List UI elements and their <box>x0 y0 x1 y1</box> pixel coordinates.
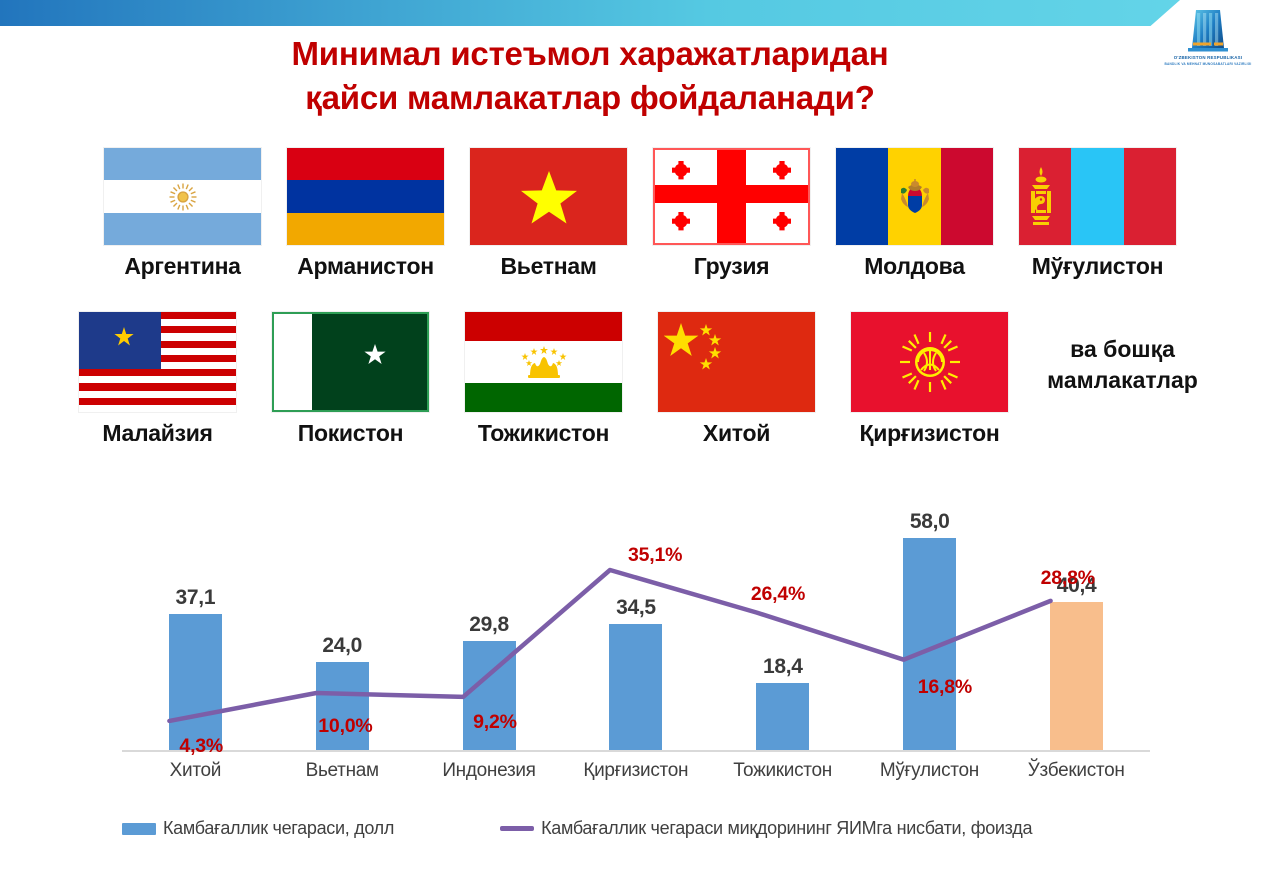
crown-stars-icon <box>516 346 572 378</box>
flag-row-1: Аргентина Арманистон Вьетнам <box>0 148 1280 280</box>
flag-label: Аргентина <box>124 253 240 280</box>
flag-label: Покистон <box>298 420 404 447</box>
line-point-label-5: 16,8% <box>918 676 972 699</box>
flag-label: Қирғизистон <box>860 420 1000 447</box>
line-point-label-6: 28,8% <box>1041 567 1095 590</box>
flag-cell-china: Хитой <box>640 312 833 447</box>
china-flag <box>658 312 815 412</box>
building-logo-icon <box>1180 4 1236 54</box>
flag-cell-pakistan: Покистон <box>254 312 447 447</box>
x-label-5: Мўғулистон <box>856 760 1003 782</box>
star-icon <box>519 168 579 226</box>
legend-line-swatch <box>500 826 534 831</box>
armenia-flag <box>287 148 444 245</box>
line-point-label-1: 10,0% <box>318 715 372 738</box>
other-countries-note: ва бошқа мамлакатлар <box>1026 312 1219 396</box>
flag-label: Молдова <box>864 253 964 280</box>
moldova-flag <box>836 148 993 245</box>
line-point-label-4: 26,4% <box>751 583 805 606</box>
flag-cell-moldova: Молдова <box>823 148 1006 280</box>
flag-cell-kyrgyzstan: Қирғизистон <box>833 312 1026 447</box>
flag-cell-mongolia: Мўғулистон <box>1006 148 1189 280</box>
legend-item-bar[interactable]: Камбағаллик чегараси, долл <box>122 818 394 839</box>
tajikistan-flag <box>465 312 622 412</box>
x-label-0: Хитой <box>122 760 269 782</box>
x-label-3: Қирғизистон <box>562 760 709 782</box>
bolnisi-cross-icon <box>670 160 692 182</box>
chart-legend: Камбағаллик чегараси, долл Камбағаллик ч… <box>122 818 1222 839</box>
page-title: Минимал истеъмол харажатларидан қайси ма… <box>0 32 1180 120</box>
flag-row-2: Малайзия Покистон <box>0 312 1280 447</box>
title-line-1: Минимал истеъмол харажатларидан <box>0 32 1180 76</box>
flag-cell-vietnam: Вьетнам <box>457 148 640 280</box>
flag-cell-georgia: Грузия <box>640 148 823 280</box>
pakistan-flag <box>272 312 429 412</box>
legend-bar-swatch <box>122 823 156 835</box>
title-line-2: қайси мамлакатлар фойдаланади? <box>0 76 1180 120</box>
x-label-2: Индонезия <box>416 760 563 782</box>
logo-title: O'ZBEKISTON RESPUBLIKASI <box>1174 55 1242 61</box>
legend-bar-label: Камбағаллик чегараси, долл <box>163 818 394 839</box>
bolnisi-cross-icon <box>670 211 692 233</box>
flag-label: Тожикистон <box>478 420 609 447</box>
bolnisi-cross-icon <box>771 211 793 233</box>
sun-tunduk-icon <box>898 330 962 394</box>
crescent-star-icon <box>323 331 395 393</box>
flag-label: Хитой <box>703 420 770 447</box>
flag-cell-argentina: Аргентина <box>91 148 274 280</box>
bolnisi-cross-icon <box>771 160 793 182</box>
x-label-6: Ўзбекистон <box>1003 760 1150 782</box>
argentina-flag <box>104 148 261 245</box>
chart-x-axis-labels: ХитойВьетнамИндонезияҚирғизистонТожикист… <box>122 760 1150 782</box>
flag-label: Малайзия <box>102 420 212 447</box>
line-point-label-2: 9,2% <box>473 711 517 734</box>
kyrgyzstan-flag <box>851 312 1008 412</box>
top-decorative-banner <box>0 0 1180 26</box>
note-line-2: мамлакатлар <box>1047 365 1198 396</box>
flag-label: Мўғулистон <box>1032 253 1163 280</box>
sun-of-may-icon <box>169 183 197 211</box>
chart-x-axis <box>122 750 1150 752</box>
legend-item-line[interactable]: Камбағаллик чегараси миқдорининг ЯИМга н… <box>500 818 1032 839</box>
note-line-1: ва бошқа <box>1070 334 1175 365</box>
x-label-1: Вьетнам <box>269 760 416 782</box>
coat-of-arms-icon <box>898 175 932 219</box>
legend-line-label: Камбағаллик чегараси миқдорининг ЯИМга н… <box>541 818 1032 839</box>
malaysia-flag <box>79 312 236 412</box>
vietnam-flag <box>470 148 627 245</box>
x-label-4: Тожикистон <box>709 760 856 782</box>
flag-cell-malaysia: Малайзия <box>61 312 254 447</box>
mongolia-flag <box>1019 148 1176 245</box>
georgia-flag <box>653 148 810 245</box>
soyombo-icon <box>1028 166 1054 228</box>
stars-icon <box>664 320 754 380</box>
crescent-star-icon <box>88 319 140 359</box>
flag-label: Арманистон <box>297 253 434 280</box>
line-point-label-3: 35,1% <box>628 544 682 567</box>
flag-cell-armenia: Арманистон <box>274 148 457 280</box>
flag-cell-tajikistan: Тожикистон <box>447 312 640 447</box>
chart-line-series <box>122 488 1150 750</box>
line-point-label-0: 4,3% <box>179 735 223 758</box>
flag-label: Вьетнам <box>500 253 596 280</box>
flag-label: Грузия <box>694 253 770 280</box>
poverty-line-chart: 37,124,029,834,518,458,040,4 ХитойВьетна… <box>0 478 1280 880</box>
